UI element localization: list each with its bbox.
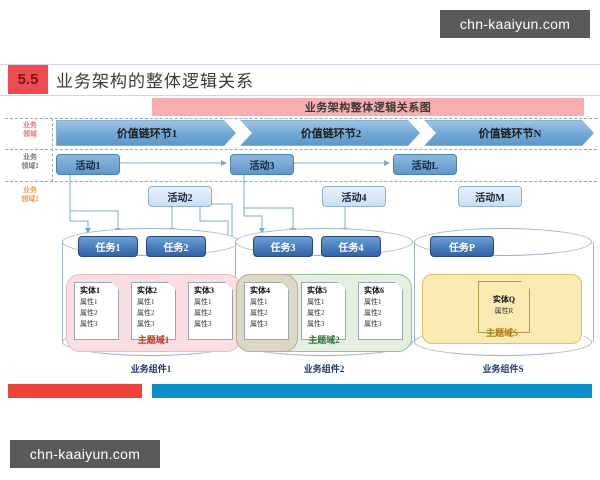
entity-attr: 属性1 (137, 297, 175, 308)
entity-card-2[interactable]: 实体2 属性1 属性2 属性3 (131, 282, 176, 340)
entity-name: 实体3 (194, 285, 232, 297)
component-label-1: 业务组件1 (62, 362, 240, 375)
entity-card-6[interactable]: 实体6 属性1 属性2 属性3 (358, 282, 403, 340)
activity-l[interactable]: 活动L (393, 154, 457, 175)
entity-name: 实体4 (250, 285, 288, 297)
entity-attr: 属性3 (137, 319, 175, 330)
entity-card-1[interactable]: 实体1 属性1 属性2 属性3 (74, 282, 119, 340)
entity-attr: 属性2 (137, 308, 175, 319)
subject-domain-2-label: 主题域2 (236, 333, 412, 346)
entity-attr: 属性3 (364, 319, 402, 330)
subject-domain-1-label: 主题域1 (66, 333, 241, 346)
entity-attr: 属性2 (250, 308, 288, 319)
entity-attr: 属性1 (194, 297, 232, 308)
section-title: 业务架构的整体逻辑关系 (56, 67, 254, 92)
activity-1[interactable]: 活动1 (56, 154, 120, 175)
entity-attr: 属性1 (307, 297, 345, 308)
watermark-bottom: chn-kaaiyun.com (10, 440, 160, 468)
entity-attr: 属性R (479, 306, 529, 317)
entity-name: 实体5 (307, 285, 345, 297)
activity-3[interactable]: 活动3 (230, 154, 294, 175)
footer-bar-blue (152, 384, 592, 398)
entity-attr: 属性2 (80, 308, 118, 319)
section-number: 5.5 (8, 65, 48, 94)
task-4[interactable]: 任务4 (321, 236, 381, 257)
entity-attr: 属性2 (307, 308, 345, 319)
entity-attr: 属性3 (307, 319, 345, 330)
entity-attr: 属性2 (364, 308, 402, 319)
task-p[interactable]: 任务P (430, 236, 494, 257)
entity-attr: 属性1 (250, 297, 288, 308)
task-3[interactable]: 任务3 (253, 236, 313, 257)
section-rule-top (0, 64, 600, 65)
entity-attr: 属性3 (194, 319, 232, 330)
entity-name: 实体6 (364, 285, 402, 297)
entity-name: 实体2 (137, 285, 175, 297)
entity-name: 实体Q (479, 294, 529, 306)
subject-domain-s-label: 主题域S (422, 326, 582, 339)
activity-4[interactable]: 活动4 (322, 186, 386, 207)
entity-name: 实体1 (80, 285, 118, 297)
task-1[interactable]: 任务1 (78, 236, 138, 257)
component-label-2: 业务组件2 (235, 362, 413, 375)
entity-attr: 属性1 (80, 297, 118, 308)
diagram-canvas: 业务架构整体逻辑关系图 业务 领域 业务 领域1 业务 领域2 价值链环节1 价… (0, 96, 600, 416)
entity-card-4[interactable]: 实体4 属性1 属性2 属性3 (244, 282, 289, 340)
activity-2[interactable]: 活动2 (148, 186, 212, 207)
entity-attr: 属性3 (250, 319, 288, 330)
task-2[interactable]: 任务2 (146, 236, 206, 257)
watermark-top: chn-kaaiyun.com (440, 10, 590, 38)
entity-attr: 属性2 (194, 308, 232, 319)
entity-card-3[interactable]: 实体3 属性1 属性2 属性3 (188, 282, 233, 340)
entity-attr: 属性1 (364, 297, 402, 308)
activity-m[interactable]: 活动M (458, 186, 522, 207)
entity-card-5[interactable]: 实体5 属性1 属性2 属性3 (301, 282, 346, 340)
footer-bar-red (8, 384, 142, 398)
component-label-s: 业务组件S (414, 362, 592, 375)
entity-attr: 属性3 (80, 319, 118, 330)
